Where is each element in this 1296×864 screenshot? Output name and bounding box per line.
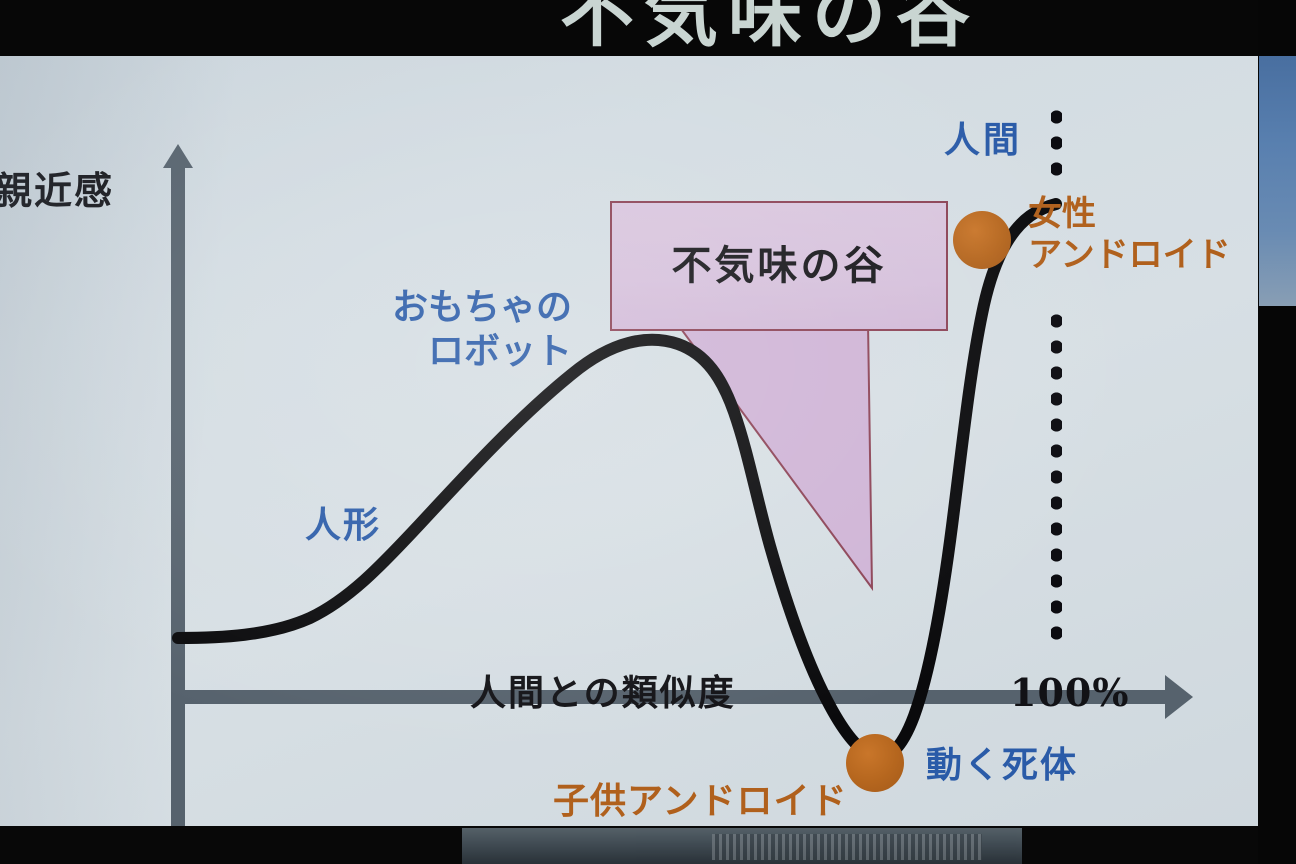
data-point-child-android (846, 734, 904, 792)
y-axis-label: 親近感 (0, 160, 114, 215)
background-blue-wall-strip (1259, 56, 1296, 306)
slide-canvas: 不気味の谷 親近感 おもちゃの ロボット 人形 人間 女性 アンドロイド 人間と… (0, 56, 1258, 828)
label-toy-robot-line1: おもちゃの (392, 286, 572, 330)
label-child-android: 子供アンドロイド (553, 772, 848, 824)
projected-slide-photo: 不気味の谷 不気味の谷 親近感 おもちゃの (0, 0, 1296, 864)
slide-title: 不気味の谷 (560, 0, 980, 56)
label-female-android-line1: 女性 (1028, 194, 1231, 235)
label-toy-robot: おもちゃの ロボット (392, 286, 572, 374)
slide-title-band: 不気味の谷 (0, 0, 1258, 56)
label-doll: 人形 (305, 496, 381, 548)
background-room-glimpse (462, 828, 1022, 864)
label-human: 人間 (944, 111, 1022, 163)
label-moving-corpse: 動く死体 (926, 736, 1078, 788)
x-axis-tick-100-percent: 100% (1010, 670, 1129, 715)
x-axis-label: 人間との類似度 (470, 664, 736, 716)
label-toy-robot-line2: ロボット (392, 330, 572, 374)
data-point-female-android (953, 211, 1011, 269)
label-female-android-line2: アンドロイド (1028, 235, 1231, 276)
label-female-android: 女性 アンドロイド (1028, 194, 1231, 276)
